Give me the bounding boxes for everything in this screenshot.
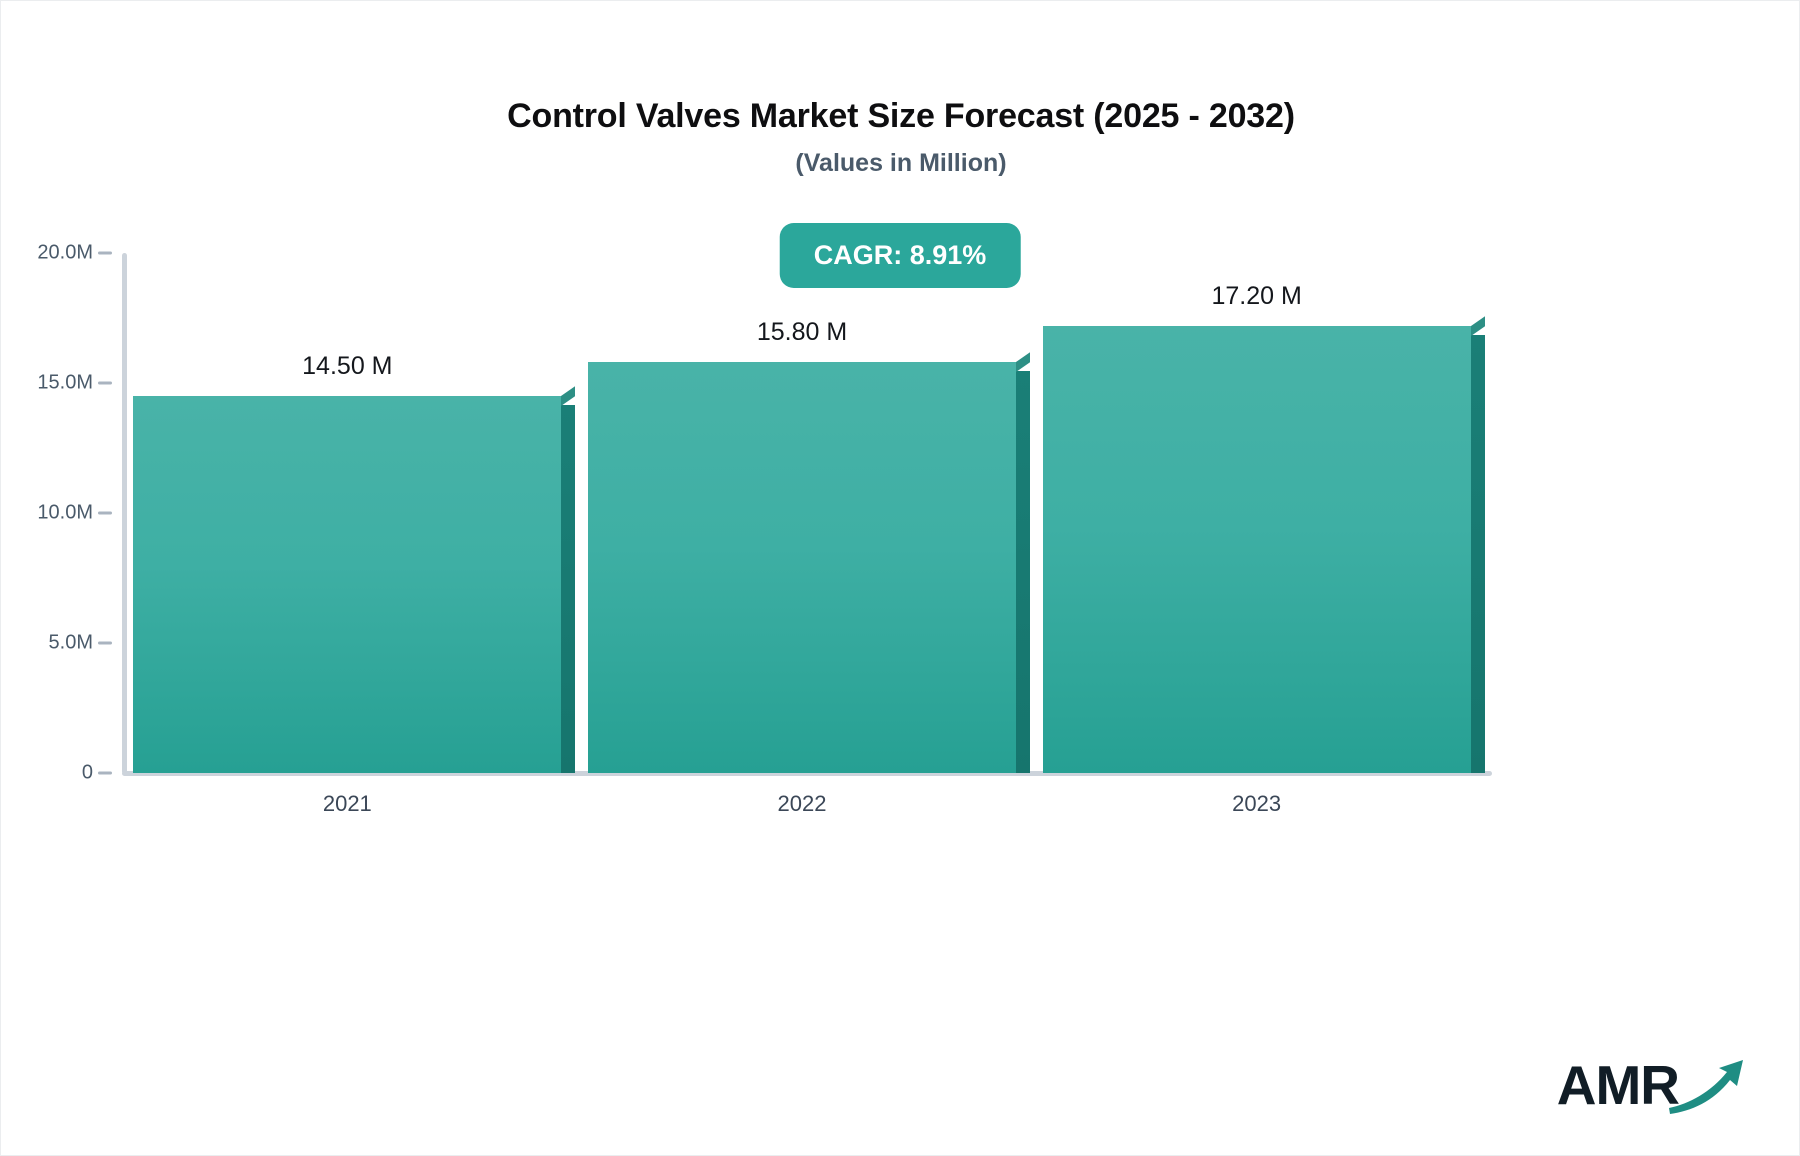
bar-group[interactable]: 14.50 M2021 bbox=[133, 396, 561, 773]
bar-top-bevel bbox=[1471, 316, 1485, 336]
bar-value-label: 14.50 M bbox=[133, 352, 561, 381]
y-axis-tick-label: 10.0M bbox=[0, 502, 93, 525]
y-axis-tick-mark bbox=[98, 512, 112, 515]
bar-side-face bbox=[1471, 335, 1485, 773]
cagr-badge: CAGR: 8.91% bbox=[780, 223, 1021, 288]
bar-top-bevel bbox=[1016, 352, 1030, 372]
y-axis-tick-mark bbox=[98, 252, 112, 255]
y-axis-tick-mark bbox=[98, 642, 112, 645]
bar-front-face[interactable] bbox=[1043, 326, 1471, 773]
y-axis-tick-label: 15.0M bbox=[0, 372, 93, 395]
bar-front-face[interactable] bbox=[588, 362, 1016, 773]
x-axis-tick-label: 2022 bbox=[588, 791, 1016, 817]
y-axis-tick-label: 0 bbox=[0, 762, 93, 785]
y-axis-line bbox=[122, 253, 127, 774]
logo-text: AMR bbox=[1557, 1058, 1679, 1113]
bar-value-label: 17.20 M bbox=[1043, 282, 1471, 311]
plot-area: 20.0M15.0M10.0M5.0M0 14.50 M202115.80 M2… bbox=[1, 1, 1800, 1156]
y-axis-tick-label: 5.0M bbox=[0, 632, 93, 655]
bar-front-face[interactable] bbox=[133, 396, 561, 773]
y-axis-tick-label: 20.0M bbox=[0, 242, 93, 265]
bar-top-bevel bbox=[561, 386, 575, 406]
x-axis-tick-label: 2021 bbox=[133, 791, 561, 817]
chart-page: Control Valves Market Size Forecast (202… bbox=[0, 0, 1800, 1156]
x-axis-tick-label: 2023 bbox=[1043, 791, 1471, 817]
bar-side-face bbox=[561, 405, 575, 773]
y-axis-tick-mark bbox=[98, 772, 112, 775]
y-axis-tick-mark bbox=[98, 382, 112, 385]
amr-logo: AMR bbox=[1557, 1049, 1747, 1121]
bar-group[interactable]: 17.20 M2023 bbox=[1043, 326, 1471, 773]
bar-side-face bbox=[1016, 371, 1030, 773]
bar-value-label: 15.80 M bbox=[588, 318, 1016, 347]
bar-group[interactable]: 15.80 M2022 bbox=[588, 362, 1016, 773]
growth-arrow-icon bbox=[1667, 1058, 1747, 1121]
